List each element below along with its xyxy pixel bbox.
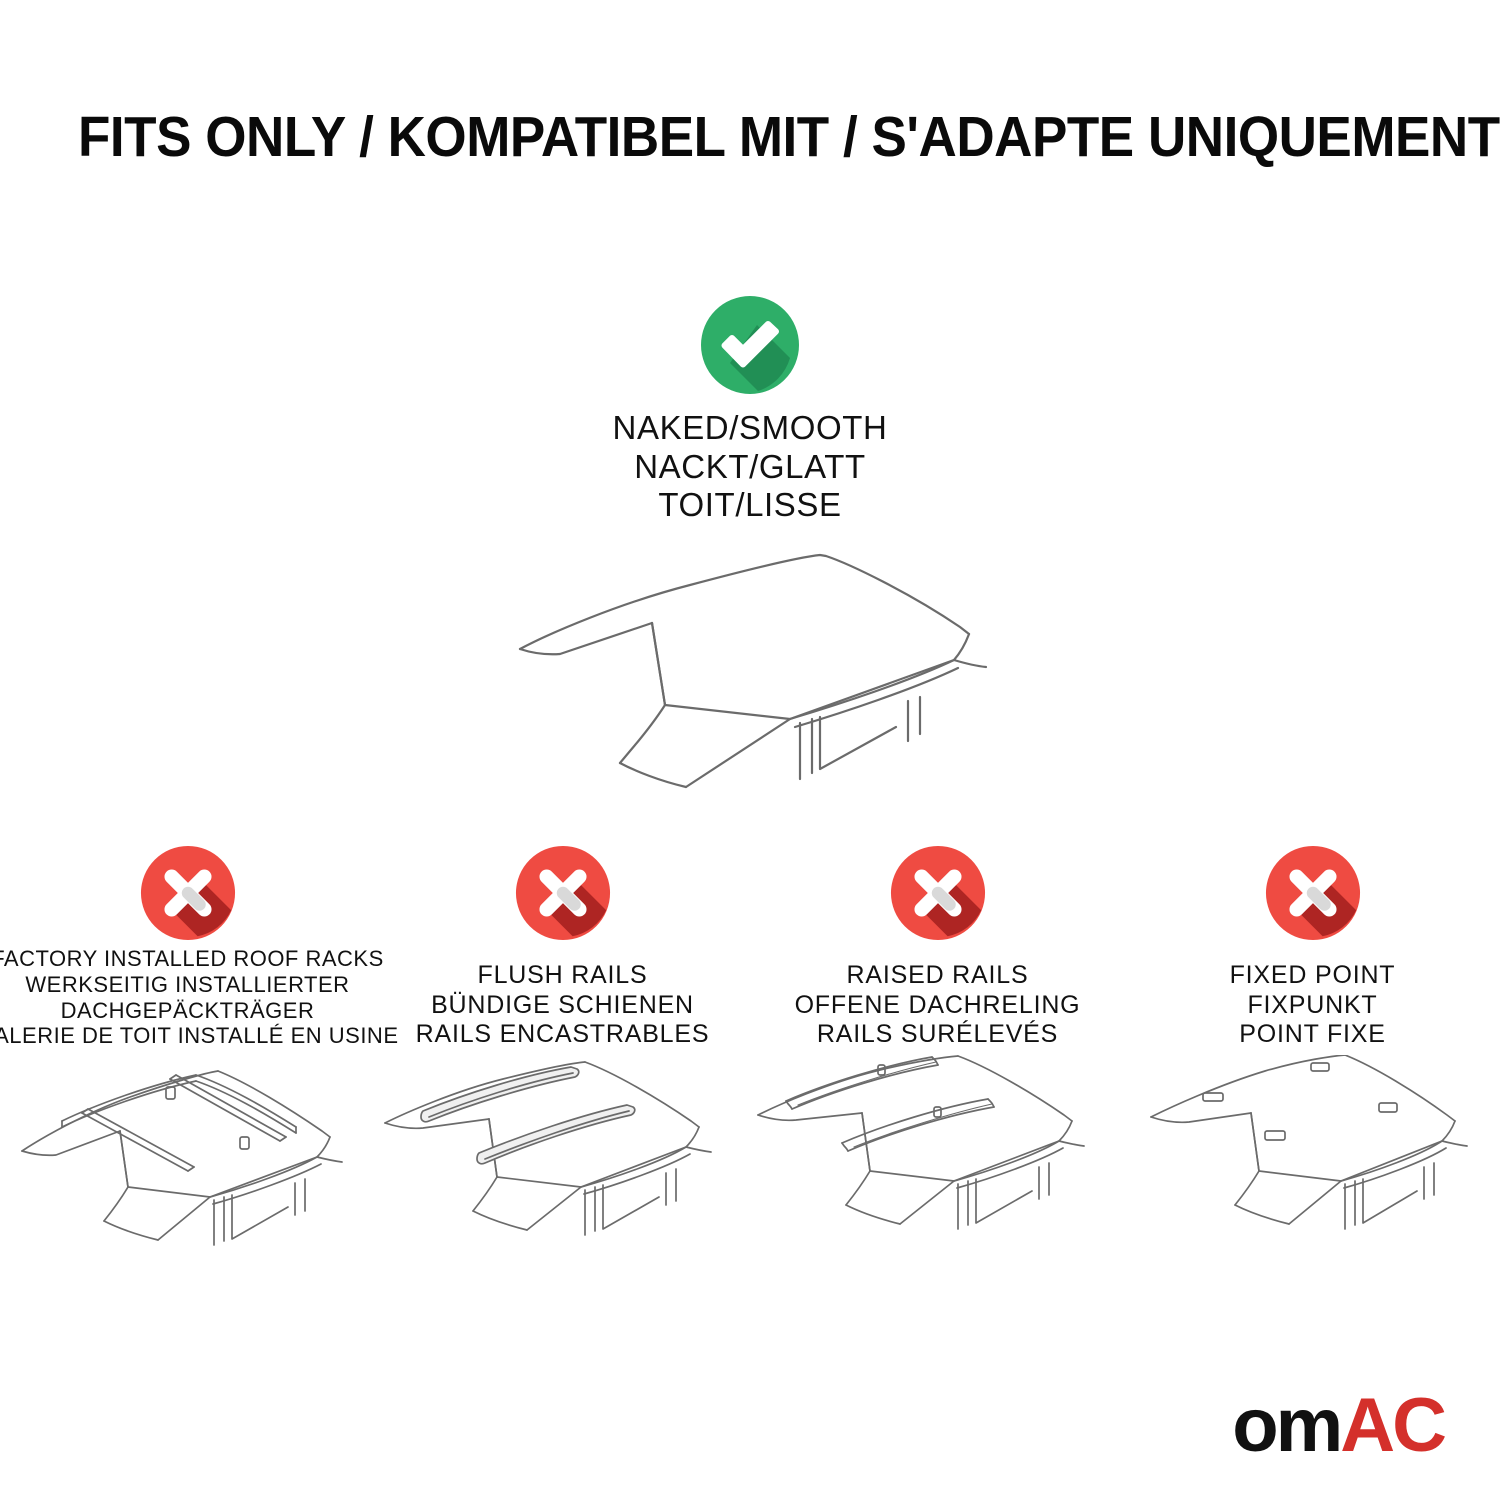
incompatible-section: FACTORY INSTALLED ROOF RACKS WERKSEITIG … xyxy=(0,845,1500,1265)
caption-line-4: GALERIE DE TOIT INSTALLÉ EN USINE xyxy=(0,1023,399,1049)
caption-factory-installed-roof-racks: FACTORY INSTALLED ROOF RACKS WERKSEITIG … xyxy=(0,953,399,1049)
caption-line-1: RAISED RAILS xyxy=(795,961,1081,990)
car-roof-raised-rails-illustration xyxy=(750,1055,1125,1265)
logo-text-ac: AC xyxy=(1340,1388,1444,1464)
x-circle-icon xyxy=(515,845,611,941)
logo-text-om: om xyxy=(1232,1388,1340,1464)
check-badge-wrap xyxy=(450,295,1050,395)
car-roof-naked-smooth-illustration xyxy=(450,541,1050,821)
caption-line-1: FACTORY INSTALLED ROOF RACKS xyxy=(0,946,399,972)
check-circle-icon xyxy=(700,295,800,395)
caption-line-2: OFFENE DACHRELING xyxy=(795,991,1081,1020)
car-roof-fixed-point-illustration xyxy=(1143,1055,1483,1265)
x-badge-wrap-1 xyxy=(140,845,236,941)
fitment-infographic: FITS ONLY / KOMPATIBEL MIT / S'ADAPTE UN… xyxy=(0,0,1500,1500)
caption-line-3: RAILS ENCASTRABLES xyxy=(416,1020,710,1049)
caption-line-2: WERKSEITIG INSTALLIERTER xyxy=(0,972,399,998)
x-badge-wrap-4 xyxy=(1265,845,1361,941)
incompatible-item-factory-installed-roof-racks: FACTORY INSTALLED ROOF RACKS WERKSEITIG … xyxy=(0,845,375,1265)
page-title: FITS ONLY / KOMPATIBEL MIT / S'ADAPTE UN… xyxy=(78,108,1334,168)
incompatible-item-fixed-point: FIXED POINT FIXPUNKT POINT FIXE xyxy=(1125,845,1500,1265)
compatible-section: NAKED/SMOOTH NACKT/GLATT TOIT/LISSE xyxy=(450,295,1050,821)
car-roof-flush-rails-illustration xyxy=(375,1055,750,1265)
x-circle-icon xyxy=(140,845,236,941)
caption-line-2: FIXPUNKT xyxy=(1230,991,1396,1020)
caption-line-2: BÜNDIGE SCHIENEN xyxy=(416,991,710,1020)
compatible-line-2: NACKT/GLATT xyxy=(450,448,1050,487)
omac-logo: om AC xyxy=(1232,1388,1444,1464)
caption-line-3: DACHGEPÄCKTRÄGER xyxy=(0,998,399,1024)
x-badge-wrap-3 xyxy=(890,845,986,941)
x-circle-icon xyxy=(890,845,986,941)
compatible-caption: NAKED/SMOOTH NACKT/GLATT TOIT/LISSE xyxy=(450,409,1050,525)
caption-line-3: POINT FIXE xyxy=(1230,1020,1396,1049)
caption-line-3: RAILS SURÉLEVÉS xyxy=(795,1020,1081,1049)
x-badge-wrap-2 xyxy=(515,845,611,941)
caption-raised-rails: RAISED RAILS OFFENE DACHRELING RAILS SUR… xyxy=(795,953,1081,1049)
caption-line-1: FIXED POINT xyxy=(1230,961,1396,990)
car-roof-factory-rack-illustration xyxy=(0,1055,375,1265)
x-circle-icon xyxy=(1265,845,1361,941)
caption-line-1: FLUSH RAILS xyxy=(416,961,710,990)
compatible-line-3: TOIT/LISSE xyxy=(450,486,1050,525)
compatible-line-1: NAKED/SMOOTH xyxy=(450,409,1050,448)
caption-flush-rails: FLUSH RAILS BÜNDIGE SCHIENEN RAILS ENCAS… xyxy=(416,953,710,1049)
incompatible-item-raised-rails: RAISED RAILS OFFENE DACHRELING RAILS SUR… xyxy=(750,845,1125,1265)
incompatible-item-flush-rails: FLUSH RAILS BÜNDIGE SCHIENEN RAILS ENCAS… xyxy=(375,845,750,1265)
caption-fixed-point: FIXED POINT FIXPUNKT POINT FIXE xyxy=(1230,953,1396,1049)
